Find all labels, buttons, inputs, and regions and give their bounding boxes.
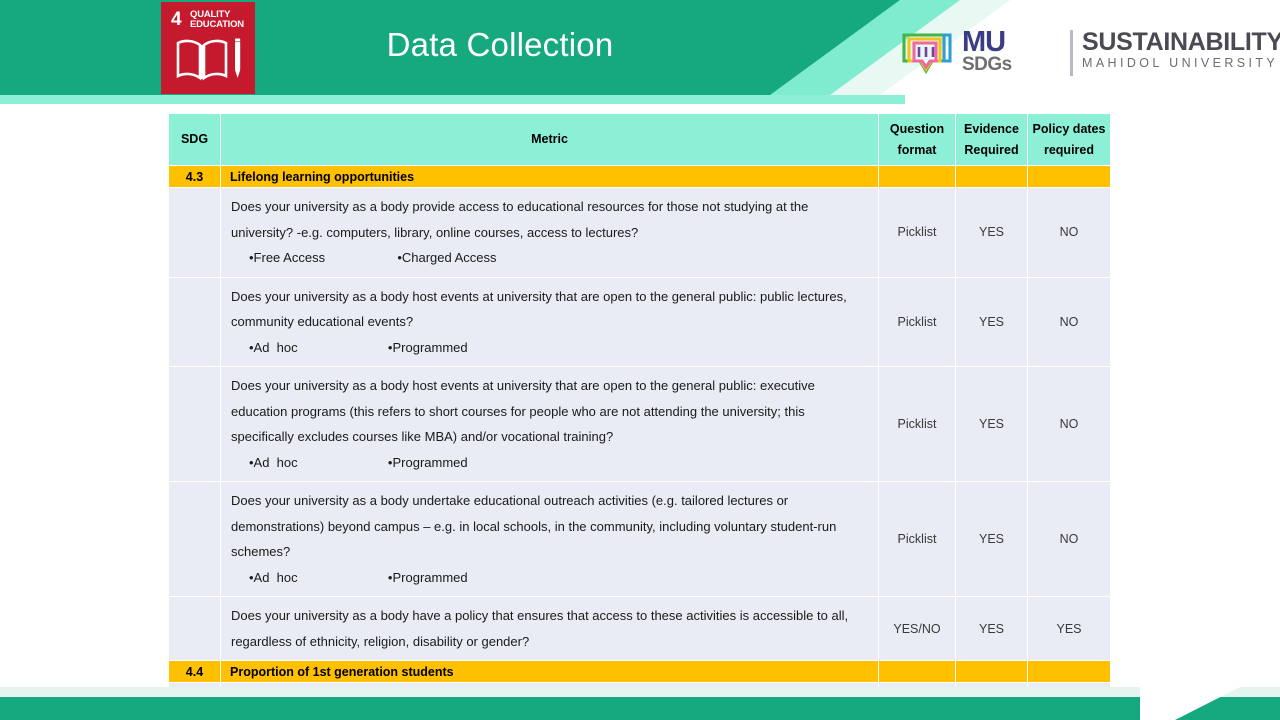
row-metric-options: •Ad hoc •Programmed <box>231 335 868 361</box>
row-sdg-blank <box>169 367 221 482</box>
column-header-question-format: Question format <box>879 114 956 166</box>
column-header-sdg: SDG <box>169 114 221 166</box>
column-header-policy-dates-line2: required <box>1030 140 1108 161</box>
table-row: Does your university as a body host even… <box>169 367 1111 482</box>
row-question-format: Picklist <box>879 482 956 597</box>
table-body: 4.3 Lifelong learning opportunities Does… <box>169 166 1111 720</box>
slide: 4 QUALITY EDUCATION Data Collection <box>0 0 1280 720</box>
row-question-format: YES/NO <box>879 597 956 661</box>
sdg-badge-label-line2: EDUCATION <box>190 20 244 30</box>
table-row: Does your university as a body have a po… <box>169 597 1111 661</box>
metrics-table: SDG Metric Question format Evidence Requ… <box>168 113 1111 720</box>
sustainability-wordmark: SUSTAINABILITY MAHIDOL UNIVERSITY <box>1082 29 1280 71</box>
column-header-evidence-required-line2: Required <box>958 140 1025 161</box>
section-policy-blank <box>1028 166 1111 188</box>
row-question-format: Picklist <box>879 277 956 367</box>
column-header-question-format-line2: format <box>881 140 953 161</box>
open-book-and-pencil-icon <box>173 36 245 86</box>
sustainability-subtitle: MAHIDOL UNIVERSITY <box>1082 55 1280 71</box>
section-row: 4.4 Proportion of 1st generation student… <box>169 661 1111 683</box>
row-metric-options: •Ad hoc •Programmed <box>231 450 868 476</box>
footer-bar <box>0 697 1280 720</box>
logo-divider <box>1070 30 1073 76</box>
section-title: Proportion of 1st generation students <box>221 661 879 683</box>
row-sdg-blank <box>169 482 221 597</box>
section-policy-blank <box>1028 661 1111 683</box>
column-header-evidence-required: Evidence Required <box>956 114 1028 166</box>
sdg-badge-number: 4 <box>171 10 182 29</box>
table-header-row: SDG Metric Question format Evidence Requ… <box>169 114 1111 166</box>
row-question-format: Picklist <box>879 367 956 482</box>
table-row: Does your university as a body provide a… <box>169 188 1111 278</box>
row-metric-options: •Free Access •Charged Access <box>231 245 868 271</box>
header-underline-white-gap <box>905 95 1280 104</box>
sustainability-title: SUSTAINABILITY <box>1082 29 1280 55</box>
row-metric: Does your university as a body host even… <box>221 367 879 482</box>
row-policy-dates-required: YES <box>1028 597 1111 661</box>
row-sdg-blank <box>169 277 221 367</box>
row-evidence-required: YES <box>956 188 1028 278</box>
mu-wordmark-mu: MU <box>962 29 1012 55</box>
table-row: Does your university as a body host even… <box>169 277 1111 367</box>
row-metric-text: Does your university as a body have a po… <box>231 608 848 649</box>
page-title: Data Collection <box>300 26 700 64</box>
section-sdg-number: 4.4 <box>169 661 221 683</box>
row-metric-text: Does your university as a body host even… <box>231 378 815 444</box>
row-metric: Does your university as a body host even… <box>221 277 879 367</box>
row-policy-dates-required: NO <box>1028 277 1111 367</box>
section-evidence-blank <box>956 166 1028 188</box>
row-metric-options: •Ad hoc •Programmed <box>231 565 868 591</box>
section-question-format-blank <box>879 166 956 188</box>
row-policy-dates-required: NO <box>1028 188 1111 278</box>
row-metric-text: Does your university as a body host even… <box>231 289 847 330</box>
row-metric-text: Does your university as a body provide a… <box>231 199 808 240</box>
sdg-4-badge: 4 QUALITY EDUCATION <box>161 2 255 94</box>
section-sdg-number: 4.3 <box>169 166 221 188</box>
mu-sdgs-speech-bubble-icon <box>900 29 958 79</box>
row-evidence-required: YES <box>956 597 1028 661</box>
table-header: SDG Metric Question format Evidence Requ… <box>169 114 1111 166</box>
column-header-policy-dates-line1: Policy dates <box>1030 119 1108 140</box>
row-question-format: Picklist <box>879 188 956 278</box>
row-evidence-required: YES <box>956 277 1028 367</box>
column-header-policy-dates-required: Policy dates required <box>1028 114 1111 166</box>
row-sdg-blank <box>169 188 221 278</box>
row-metric: Does your university as a body provide a… <box>221 188 879 278</box>
column-header-evidence-required-line1: Evidence <box>958 119 1025 140</box>
row-policy-dates-required: NO <box>1028 367 1111 482</box>
row-sdg-blank <box>169 597 221 661</box>
column-header-metric: Metric <box>221 114 879 166</box>
row-metric: Does your university as a body have a po… <box>221 597 879 661</box>
table-row: Does your university as a body undertake… <box>169 482 1111 597</box>
mu-sustainability-logo: MU SDGs SUSTAINABILITY MAHIDOL UNIVERSIT… <box>900 27 1260 81</box>
row-evidence-required: YES <box>956 367 1028 482</box>
row-metric-text: Does your university as a body undertake… <box>231 493 836 559</box>
section-title: Lifelong learning opportunities <box>221 166 879 188</box>
mu-wordmark: MU SDGs <box>962 29 1012 74</box>
sdg-badge-label: QUALITY EDUCATION <box>190 10 244 30</box>
section-row: 4.3 Lifelong learning opportunities <box>169 166 1111 188</box>
row-evidence-required: YES <box>956 482 1028 597</box>
mu-wordmark-sdgs: SDGs <box>962 55 1012 74</box>
section-evidence-blank <box>956 661 1028 683</box>
row-policy-dates-required: NO <box>1028 482 1111 597</box>
column-header-question-format-line1: Question <box>881 119 953 140</box>
section-question-format-blank <box>879 661 956 683</box>
row-metric: Does your university as a body undertake… <box>221 482 879 597</box>
